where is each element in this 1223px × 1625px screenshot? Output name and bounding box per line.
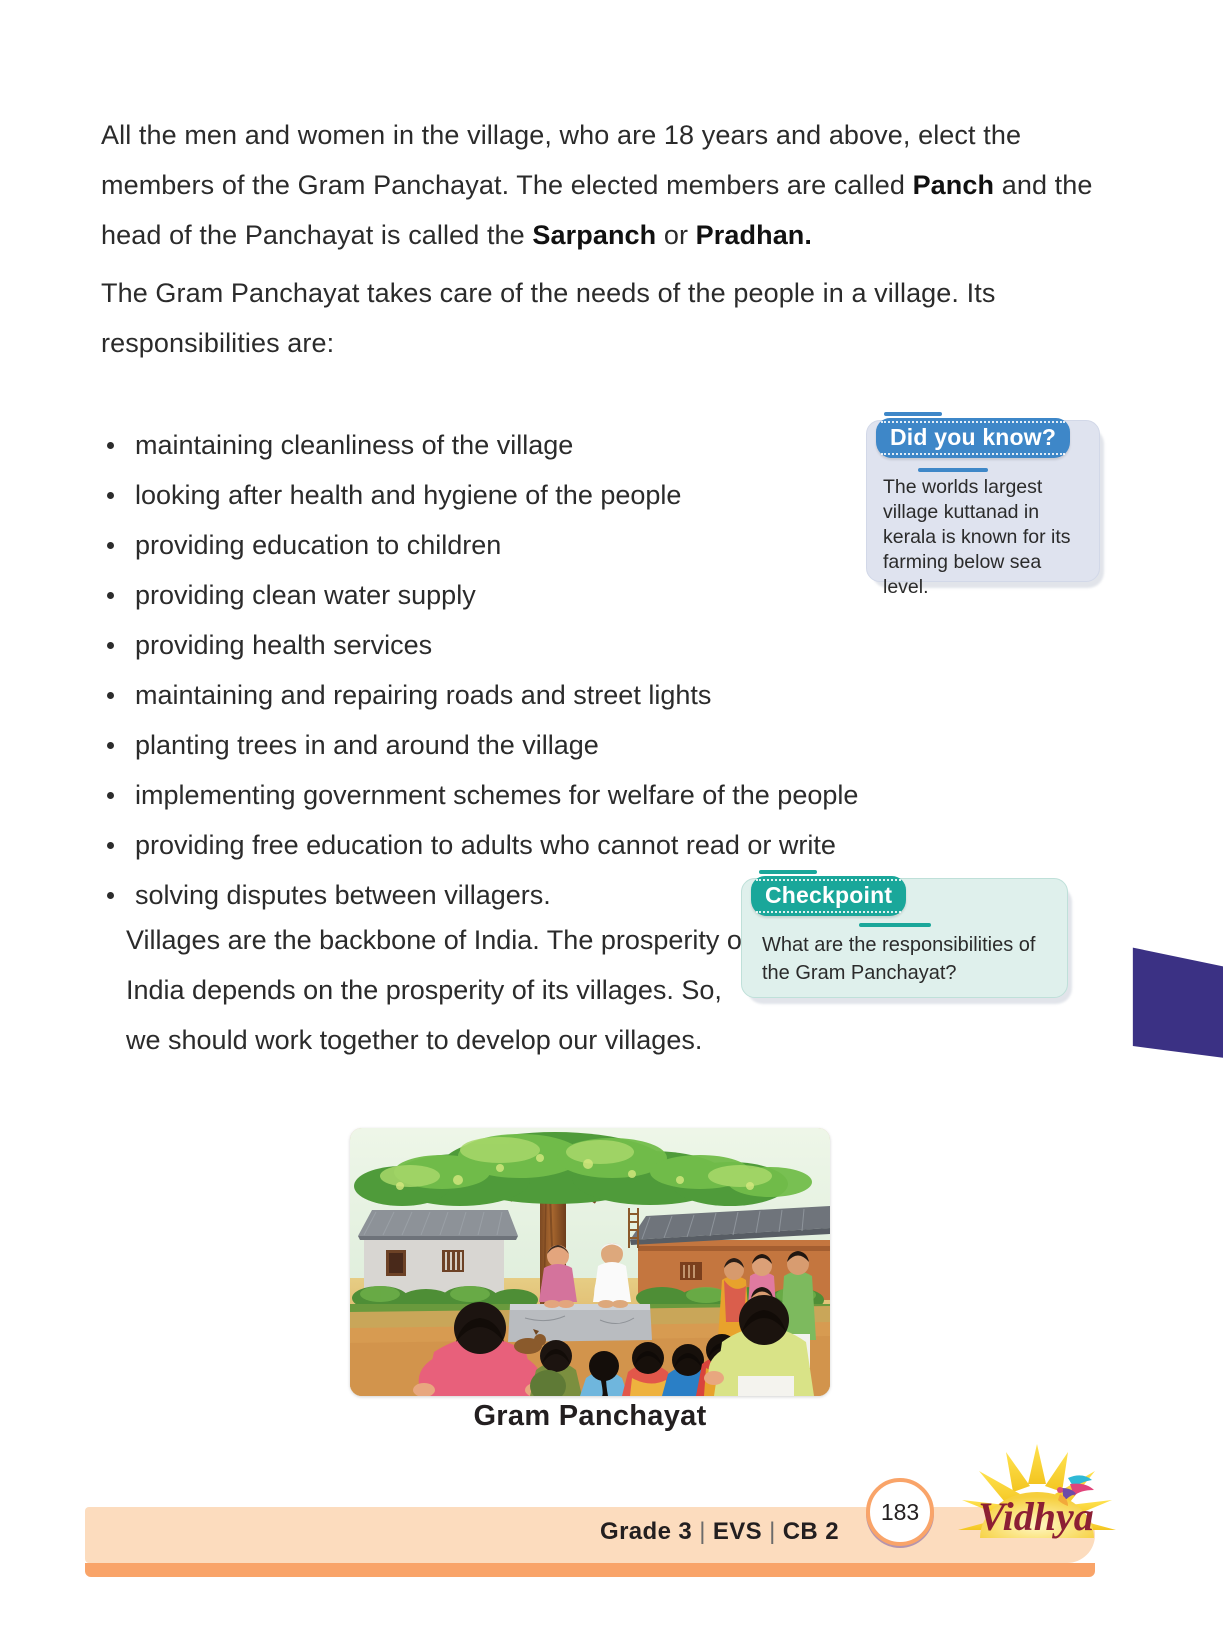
did-you-know-text: The worlds largest village kuttanad in k… [883,475,1088,600]
footer-subject: EVS [713,1518,762,1545]
footer-metadata: Grade 3|EVS|CB 2 [600,1518,839,1546]
list-item: planting trees in and around the village [101,720,1101,770]
textbook-page: All the men and women in the village, wh… [0,0,1223,1625]
callout-tick-under [918,468,988,472]
footer-accent-strip [85,1563,1095,1577]
callout-tick-under [859,923,931,927]
paragraph-one-text-c: or [656,220,695,250]
footer-separator-2: | [762,1518,783,1545]
vidhya-wordmark: Vidhya [978,1494,1094,1539]
paragraph-one: All the men and women in the village, wh… [101,110,1096,260]
vidhya-logo: Vidhya [950,1438,1125,1563]
term-pradhan: Pradhan. [696,220,812,250]
footer-bar [85,1507,1095,1563]
list-item: maintaining and repairing roads and stre… [101,670,1101,720]
village-scene-svg [350,1128,830,1396]
page-number-badge: 183 [866,1478,934,1546]
callout-tick-top [884,412,942,416]
closing-paragraph: Villages are the backbone of India. The … [126,915,756,1065]
callout-tick-top [759,870,817,874]
vidhya-logo-svg: Vidhya [950,1438,1125,1563]
list-item: providing free education to adults who c… [101,820,1101,870]
term-sarpanch: Sarpanch [532,220,656,250]
list-item: implementing government schemes for welf… [101,770,1101,820]
list-item: providing health services [101,620,1101,670]
chapter-edge-tab [1130,938,1223,1058]
did-you-know-title: Did you know? [876,418,1070,458]
checkpoint-question: What are the responsibilities of the Gra… [762,931,1054,987]
gram-panchayat-illustration [350,1128,830,1396]
footer-grade: Grade 3 [600,1518,692,1545]
term-panch: Panch [913,170,995,200]
footer-separator-1: | [692,1518,713,1545]
footer-book: CB 2 [783,1518,839,1545]
paragraph-one-text-a: All the men and women in the village, wh… [101,120,1021,200]
checkpoint-callout: Checkpoint What are the responsibilities… [741,878,1066,996]
paragraph-two: The Gram Panchayat takes care of the nee… [101,268,1096,368]
did-you-know-callout: Did you know? The worlds largest village… [866,420,1098,580]
checkpoint-title: Checkpoint [751,876,906,916]
illustration-caption: Gram Panchayat [350,1400,830,1433]
body-copy: All the men and women in the village, wh… [101,110,1096,368]
